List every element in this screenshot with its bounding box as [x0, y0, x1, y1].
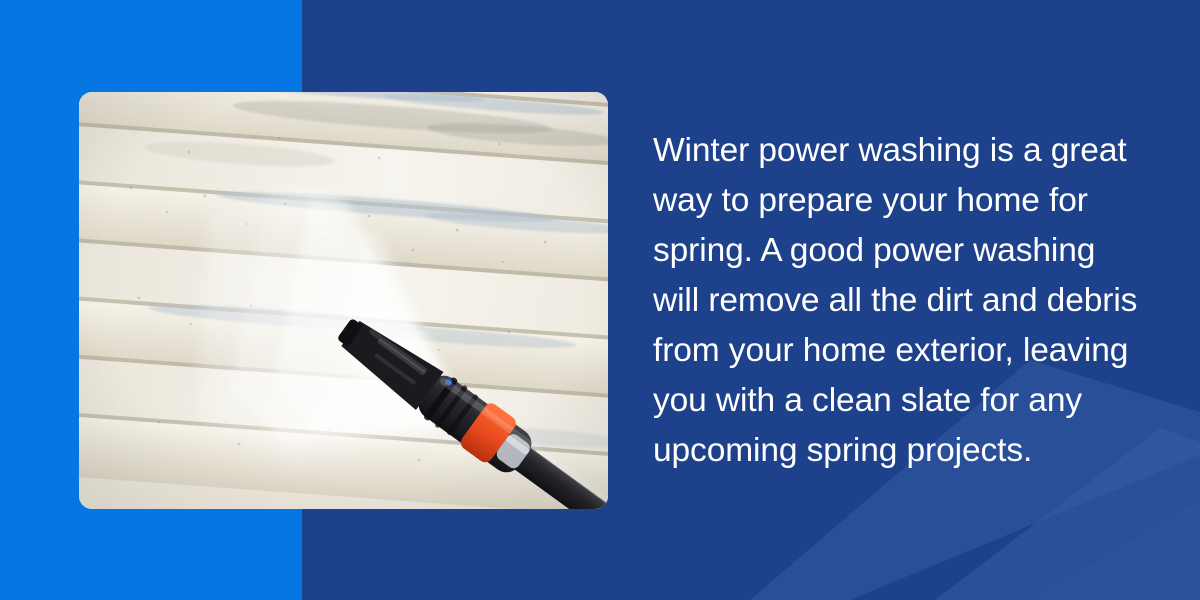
copy-line-6: you with a clean slate for any [653, 376, 1153, 426]
copy-line-5: from your home exterior, leaving [653, 326, 1153, 376]
promo-banner: Winter power washing is a great way to p… [0, 0, 1200, 600]
power-washing-photo [79, 92, 608, 509]
copy-line-7: upcoming spring projects. [653, 426, 1153, 476]
copy-line-2: way to prepare your home for [653, 176, 1153, 226]
copy-line-4: will remove all the dirt and debris [653, 276, 1153, 326]
promo-paragraph: Winter power washing is a great way to p… [653, 126, 1153, 476]
copy-line-1: Winter power washing is a great [653, 126, 1153, 176]
copy-line-3: spring. A good power washing [653, 226, 1153, 276]
